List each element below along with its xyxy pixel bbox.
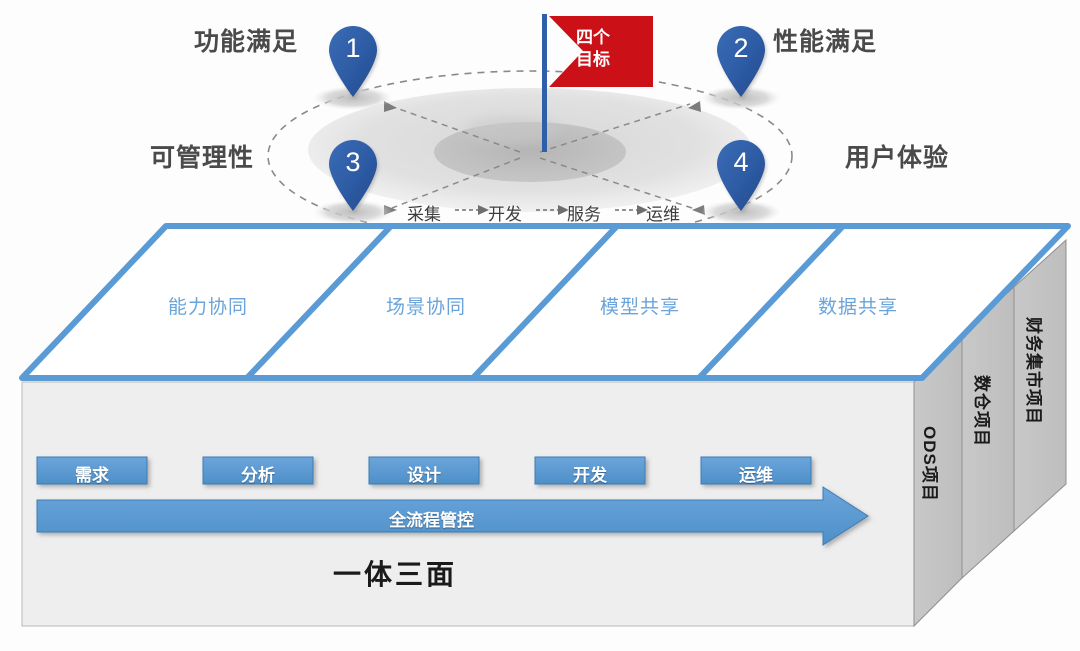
phase-button-label-0: 需求 bbox=[37, 461, 147, 486]
top-cell-label-0[interactable]: 能力协同 bbox=[168, 292, 248, 319]
pin-number-1: 1 bbox=[330, 33, 376, 64]
goal-label-1: 功能满足 bbox=[194, 22, 298, 58]
phase-button-label-2: 设计 bbox=[369, 461, 479, 486]
top-cell-label-2[interactable]: 模型共享 bbox=[600, 292, 680, 319]
side-label-mart[interactable]: 财务集市项目 bbox=[1023, 317, 1048, 425]
pin-number-4: 4 bbox=[718, 147, 764, 178]
flag-text-line2: 目标 bbox=[563, 50, 623, 70]
lifecycle-step-2: 服务 bbox=[567, 200, 601, 225]
goal-label-3: 可管理性 bbox=[150, 138, 254, 174]
diagram-graphics bbox=[0, 0, 1080, 651]
process-arrow-label: 全流程管控 bbox=[389, 506, 474, 531]
side-label-ods[interactable]: ODS项目 bbox=[919, 426, 944, 502]
flag-text-line1: 四个 bbox=[563, 28, 623, 48]
lifecycle-step-0: 采集 bbox=[407, 200, 441, 225]
lifecycle-step-3: 运维 bbox=[646, 200, 680, 225]
diagram-title: 一体三面 bbox=[333, 553, 457, 593]
diagram-canvas: 功能满足 性能满足 可管理性 用户体验 1 2 3 4 四个 目标 采集 开发 … bbox=[0, 0, 1080, 651]
goal-label-2: 性能满足 bbox=[773, 22, 877, 58]
top-cell-label-3[interactable]: 数据共享 bbox=[818, 292, 898, 319]
lifecycle-step-1: 开发 bbox=[488, 200, 522, 225]
pin-number-2: 2 bbox=[718, 33, 764, 64]
phase-button-label-3: 开发 bbox=[535, 461, 645, 486]
top-cell-label-1[interactable]: 场景协同 bbox=[386, 292, 466, 319]
side-label-dw[interactable]: 数仓项目 bbox=[971, 375, 996, 447]
phase-button-label-1: 分析 bbox=[203, 461, 313, 486]
goal-label-4: 用户体验 bbox=[845, 138, 949, 174]
flag-pole bbox=[542, 14, 547, 152]
phase-button-label-4: 运维 bbox=[701, 461, 811, 486]
pin-number-3: 3 bbox=[330, 147, 376, 178]
